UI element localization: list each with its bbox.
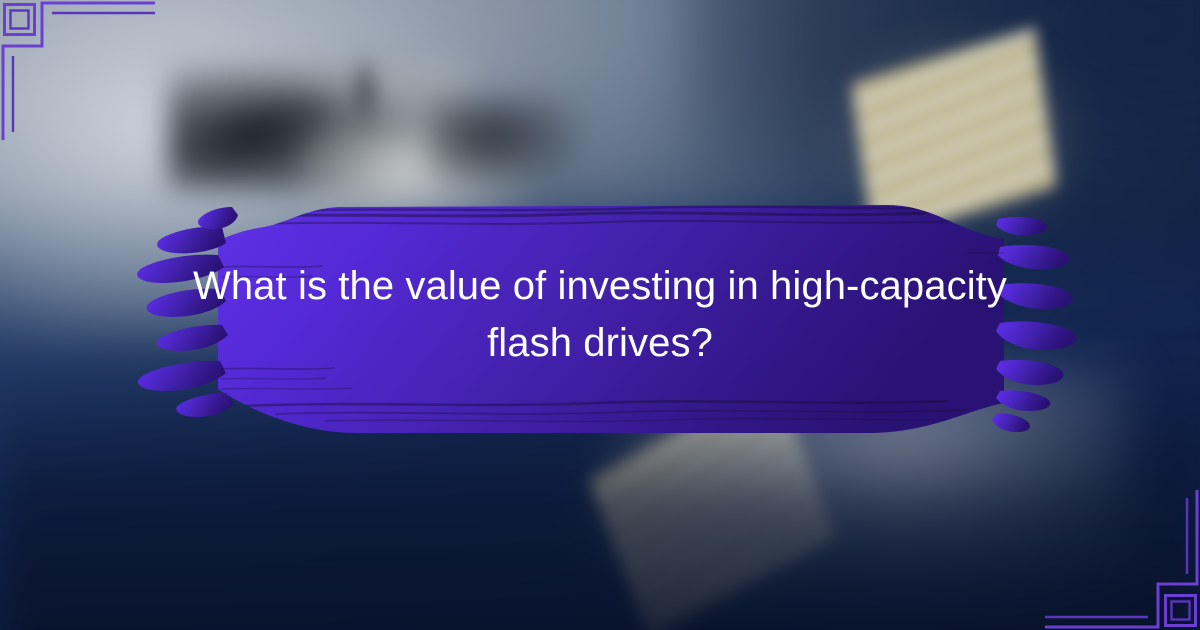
- satellite-instrument: [430, 96, 580, 188]
- satellite-antenna: [352, 56, 378, 126]
- brush-stroke-banner: [126, 193, 1010, 441]
- brush-body: [218, 205, 1004, 433]
- share-card: What is the value of investing in high-c…: [0, 0, 1200, 630]
